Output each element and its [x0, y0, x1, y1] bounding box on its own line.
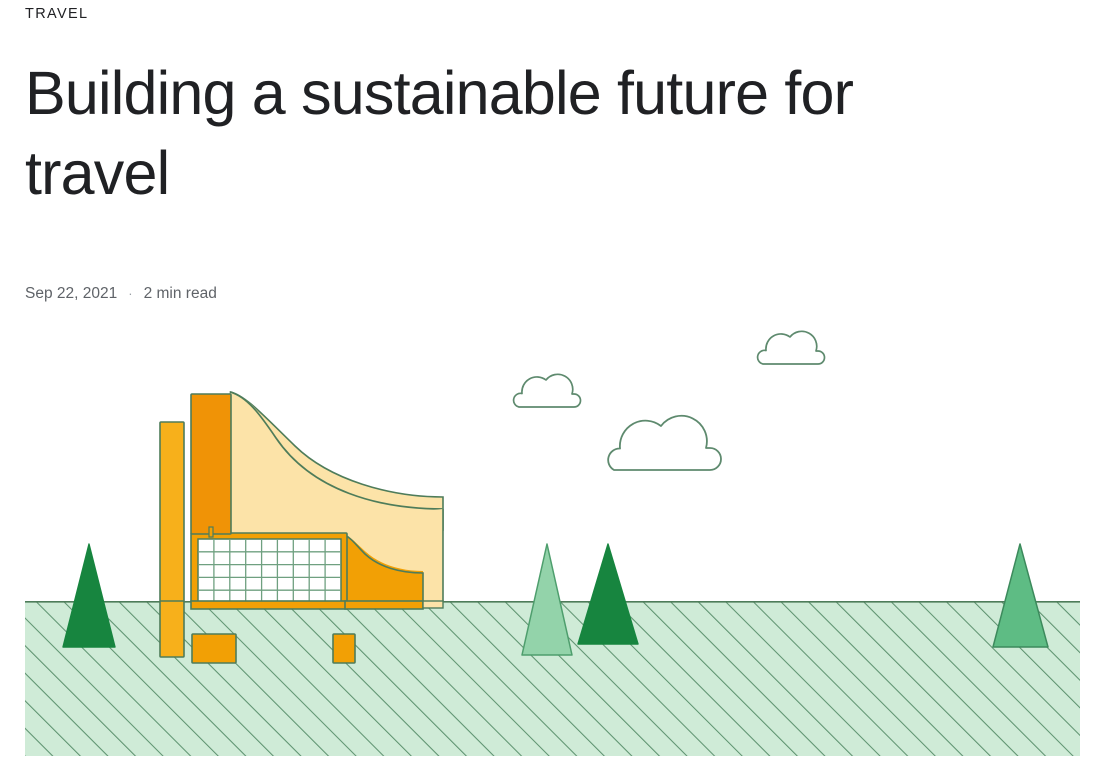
tower-short-left-base: [160, 601, 184, 657]
building-plinth-right: [345, 601, 423, 609]
meta-separator: ·: [128, 283, 132, 305]
category-kicker[interactable]: TRAVEL: [25, 0, 1025, 26]
roof-foot: [423, 601, 443, 608]
tree-dark-center: [578, 544, 638, 644]
tree-light-center: [522, 544, 572, 655]
publish-date: Sep 22, 2021: [25, 283, 117, 305]
tower-tall-left: [191, 394, 231, 534]
sustainable-travel-illustration: [0, 318, 1101, 768]
page-title: Building a sustainable future for travel: [25, 26, 1010, 213]
crate-small: [333, 634, 355, 663]
crate-large: [192, 634, 236, 663]
solar-panel-grid: [198, 539, 341, 603]
article-header: TRAVEL Building a sustainable future for…: [25, 0, 1025, 213]
cloud-small-left: [514, 374, 581, 407]
read-time: 2 min read: [144, 283, 217, 305]
article-page: TRAVEL Building a sustainable future for…: [0, 0, 1101, 768]
cloud-large-center: [608, 416, 721, 470]
article-meta: Sep 22, 2021 · 2 min read: [25, 283, 217, 305]
tree-dark-left: [63, 544, 115, 647]
tower-connector: [209, 527, 213, 537]
building-plinth: [191, 601, 347, 609]
cloud-small-right: [758, 331, 825, 364]
tree-mid-right: [993, 544, 1048, 647]
